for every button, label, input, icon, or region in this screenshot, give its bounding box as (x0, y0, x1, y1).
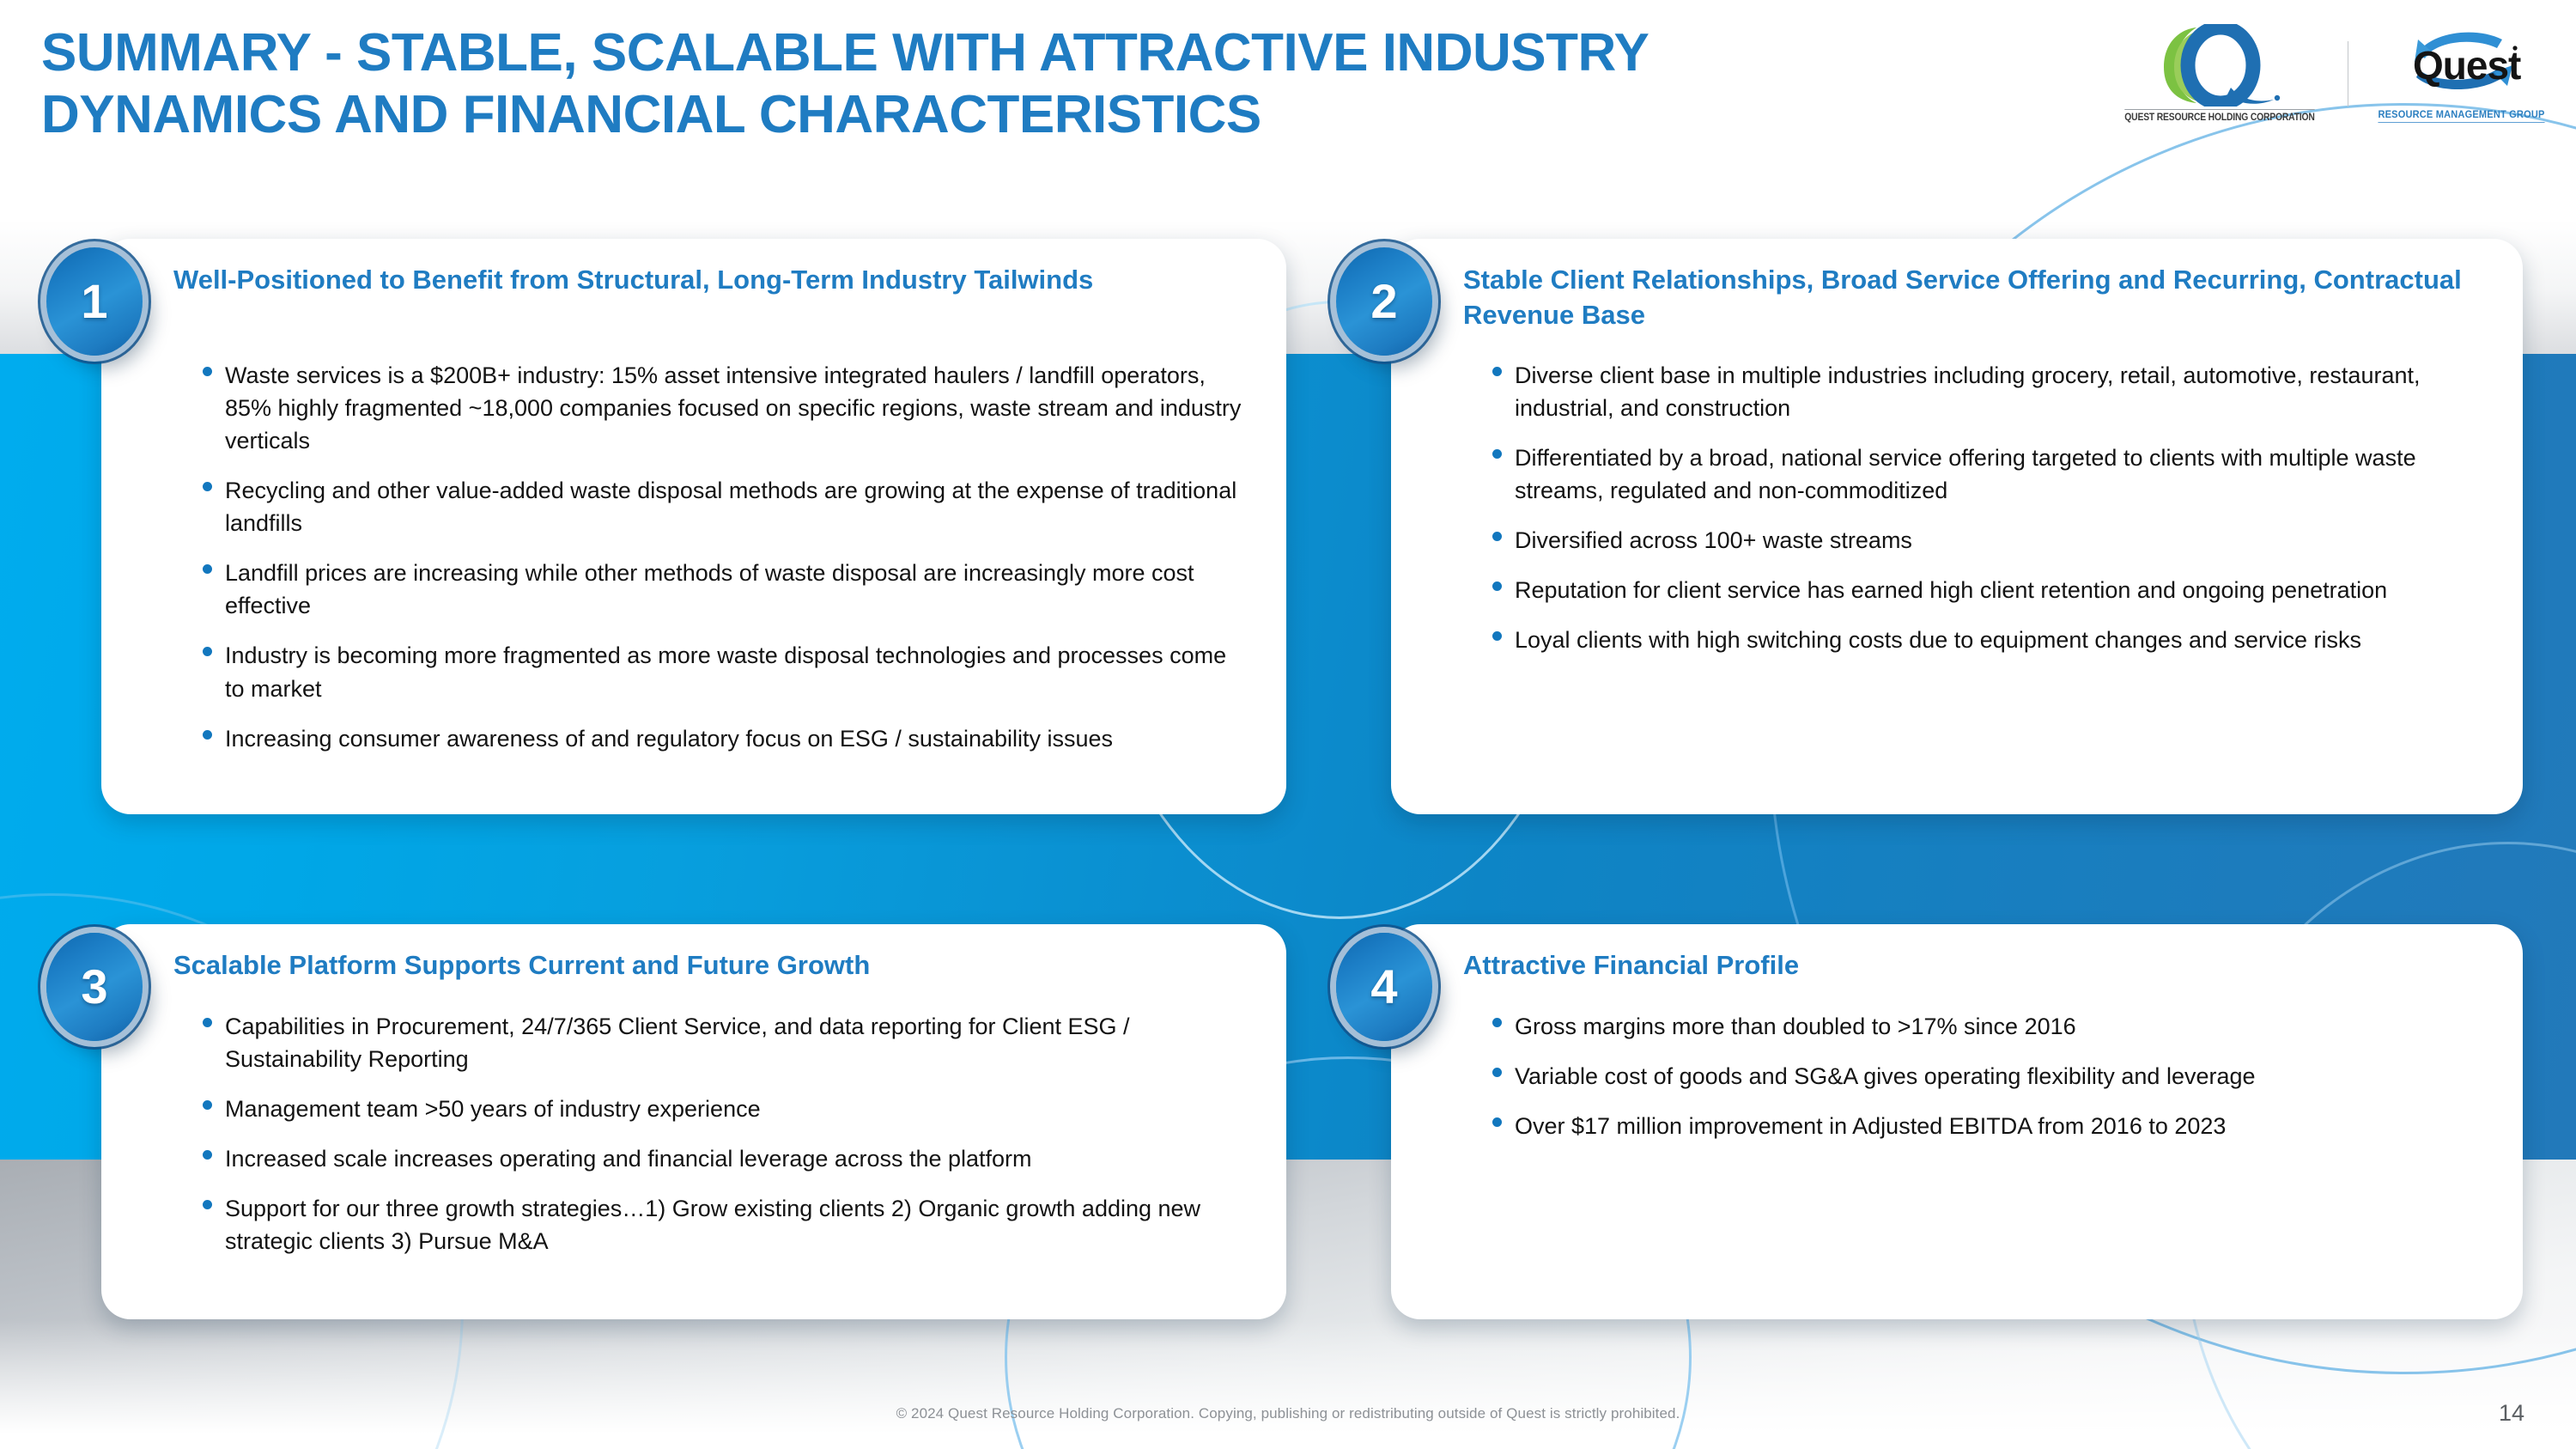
list-item: Recycling and other value-added waste di… (196, 474, 1247, 539)
svg-text:Quest: Quest (2413, 43, 2521, 88)
page-number: 14 (2499, 1400, 2524, 1427)
card-2-heading: Stable Client Relationships, Broad Servi… (1463, 263, 2476, 333)
bullet-dot-icon (203, 564, 212, 574)
bullet-dot-icon (203, 1100, 212, 1110)
bullet-dot-icon (1492, 631, 1502, 641)
copyright-footer: © 2024 Quest Resource Holding Corporatio… (0, 1405, 2576, 1422)
card-1-bullet-list: Waste services is a $200B+ industry: 15%… (196, 359, 1247, 755)
card-2: Stable Client Relationships, Broad Servi… (1391, 239, 2523, 814)
bullet-dot-icon (1492, 532, 1502, 541)
list-item-text: Industry is becoming more fragmented as … (225, 642, 1226, 701)
list-item: Over $17 million improvement in Adjusted… (1485, 1110, 2483, 1142)
list-item: Diversified across 100+ waste streams (1485, 524, 2483, 557)
logo-caption: RESOURCE MANAGEMENT GROUP (2378, 108, 2544, 123)
list-item-text: Increasing consumer awareness of and reg… (225, 726, 1113, 752)
page-title: SUMMARY - STABLE, SCALABLE WITH ATTRACTI… (41, 22, 1896, 146)
bullet-dot-icon (203, 482, 212, 491)
step-badge-2-number: 2 (1370, 277, 1397, 326)
list-item-text: Increased scale increases operating and … (225, 1146, 1032, 1172)
slide-canvas: SUMMARY - STABLE, SCALABLE WITH ATTRACTI… (0, 0, 2576, 1449)
card-1-heading: Well-Positioned to Benefit from Structur… (173, 263, 1240, 298)
card-4-bullet-list: Gross margins more than doubled to >17% … (1485, 1010, 2483, 1142)
card-3: Scalable Platform Supports Current and F… (101, 924, 1286, 1319)
logo-caption: QUEST RESOURCE HOLDING CORPORATION (2124, 109, 2314, 123)
list-item: Industry is becoming more fragmented as … (196, 639, 1247, 704)
list-item-text: Loyal clients with high switching costs … (1515, 627, 2361, 653)
step-badge-3: 3 (46, 933, 143, 1041)
card-3-heading: Scalable Platform Supports Current and F… (173, 948, 1240, 983)
step-badge-1-number: 1 (81, 277, 107, 326)
list-item: Diverse client base in multiple industri… (1485, 359, 2483, 424)
list-item-text: Management team >50 years of industry ex… (225, 1096, 761, 1122)
step-badge-3-number: 3 (81, 963, 107, 1011)
list-item-text: Capabilities in Procurement, 24/7/365 Cl… (225, 1014, 1130, 1072)
bullet-dot-icon (203, 367, 212, 376)
list-item-text: Landfill prices are increasing while oth… (225, 560, 1194, 618)
quest-resource-holding-corporation-logo: QUEST RESOURCE HOLDING CORPORATION (2114, 24, 2325, 123)
list-item: Increasing consumer awareness of and reg… (196, 722, 1247, 755)
list-item: Capabilities in Procurement, 24/7/365 Cl… (196, 1010, 1247, 1075)
list-item: Reputation for client service has earned… (1485, 574, 2483, 606)
card-1: Well-Positioned to Benefit from Structur… (101, 239, 1286, 814)
bullet-dot-icon (1492, 1068, 1502, 1077)
logo-group: QUEST RESOURCE HOLDING CORPORATION Quest… (2114, 24, 2552, 123)
list-item: Waste services is a $200B+ industry: 15%… (196, 359, 1247, 457)
list-item: Differentiated by a broad, national serv… (1485, 441, 2483, 507)
bullet-dot-icon (1492, 449, 1502, 459)
bullet-dot-icon (1492, 1117, 1502, 1127)
list-item-text: Waste services is a $200B+ industry: 15%… (225, 362, 1241, 454)
card-4: Attractive Financial Profile Gross margi… (1391, 924, 2523, 1319)
list-item: Landfill prices are increasing while oth… (196, 557, 1247, 622)
list-item-text: Recycling and other value-added waste di… (225, 478, 1236, 536)
step-badge-1: 1 (46, 247, 143, 356)
bullet-dot-icon (1492, 581, 1502, 591)
step-badge-2: 2 (1336, 247, 1432, 356)
list-item: Variable cost of goods and SG&A gives op… (1485, 1060, 2483, 1093)
q-letter-icon (2157, 24, 2282, 107)
bullet-dot-icon (1492, 1018, 1502, 1027)
list-item-text: Gross margins more than doubled to >17% … (1515, 1014, 2076, 1039)
list-item: Support for our three growth strategies…… (196, 1192, 1247, 1257)
list-item-text: Differentiated by a broad, national serv… (1515, 445, 2416, 503)
card-4-heading: Attractive Financial Profile (1463, 948, 2476, 983)
list-item-text: Support for our three growth strategies…… (225, 1196, 1200, 1254)
quest-arrows-leaf-icon: Quest (2392, 24, 2530, 107)
list-item-text: Variable cost of goods and SG&A gives op… (1515, 1063, 2256, 1089)
bullet-dot-icon (203, 1150, 212, 1160)
bullet-dot-icon (203, 1018, 212, 1027)
bullet-dot-icon (1492, 367, 1502, 376)
bullet-dot-icon (203, 647, 212, 656)
list-item: Increased scale increases operating and … (196, 1142, 1247, 1175)
card-3-bullet-list: Capabilities in Procurement, 24/7/365 Cl… (196, 1010, 1247, 1257)
logo-divider (2348, 41, 2348, 107)
list-item-text: Reputation for client service has earned… (1515, 577, 2387, 603)
list-item: Management team >50 years of industry ex… (196, 1093, 1247, 1125)
bullet-dot-icon (203, 1200, 212, 1209)
step-badge-4: 4 (1336, 933, 1432, 1041)
step-badge-4-number: 4 (1370, 963, 1397, 1011)
list-item: Loyal clients with high switching costs … (1485, 624, 2483, 656)
card-2-bullet-list: Diverse client base in multiple industri… (1485, 359, 2483, 656)
quest-resource-management-group-logo: Quest RESOURCE MANAGEMENT GROUP (2371, 24, 2552, 123)
list-item-text: Diverse client base in multiple industri… (1515, 362, 2421, 421)
list-item-text: Over $17 million improvement in Adjusted… (1515, 1113, 2226, 1139)
bullet-dot-icon (203, 730, 212, 740)
list-item: Gross margins more than doubled to >17% … (1485, 1010, 2483, 1043)
list-item-text: Diversified across 100+ waste streams (1515, 527, 1912, 553)
